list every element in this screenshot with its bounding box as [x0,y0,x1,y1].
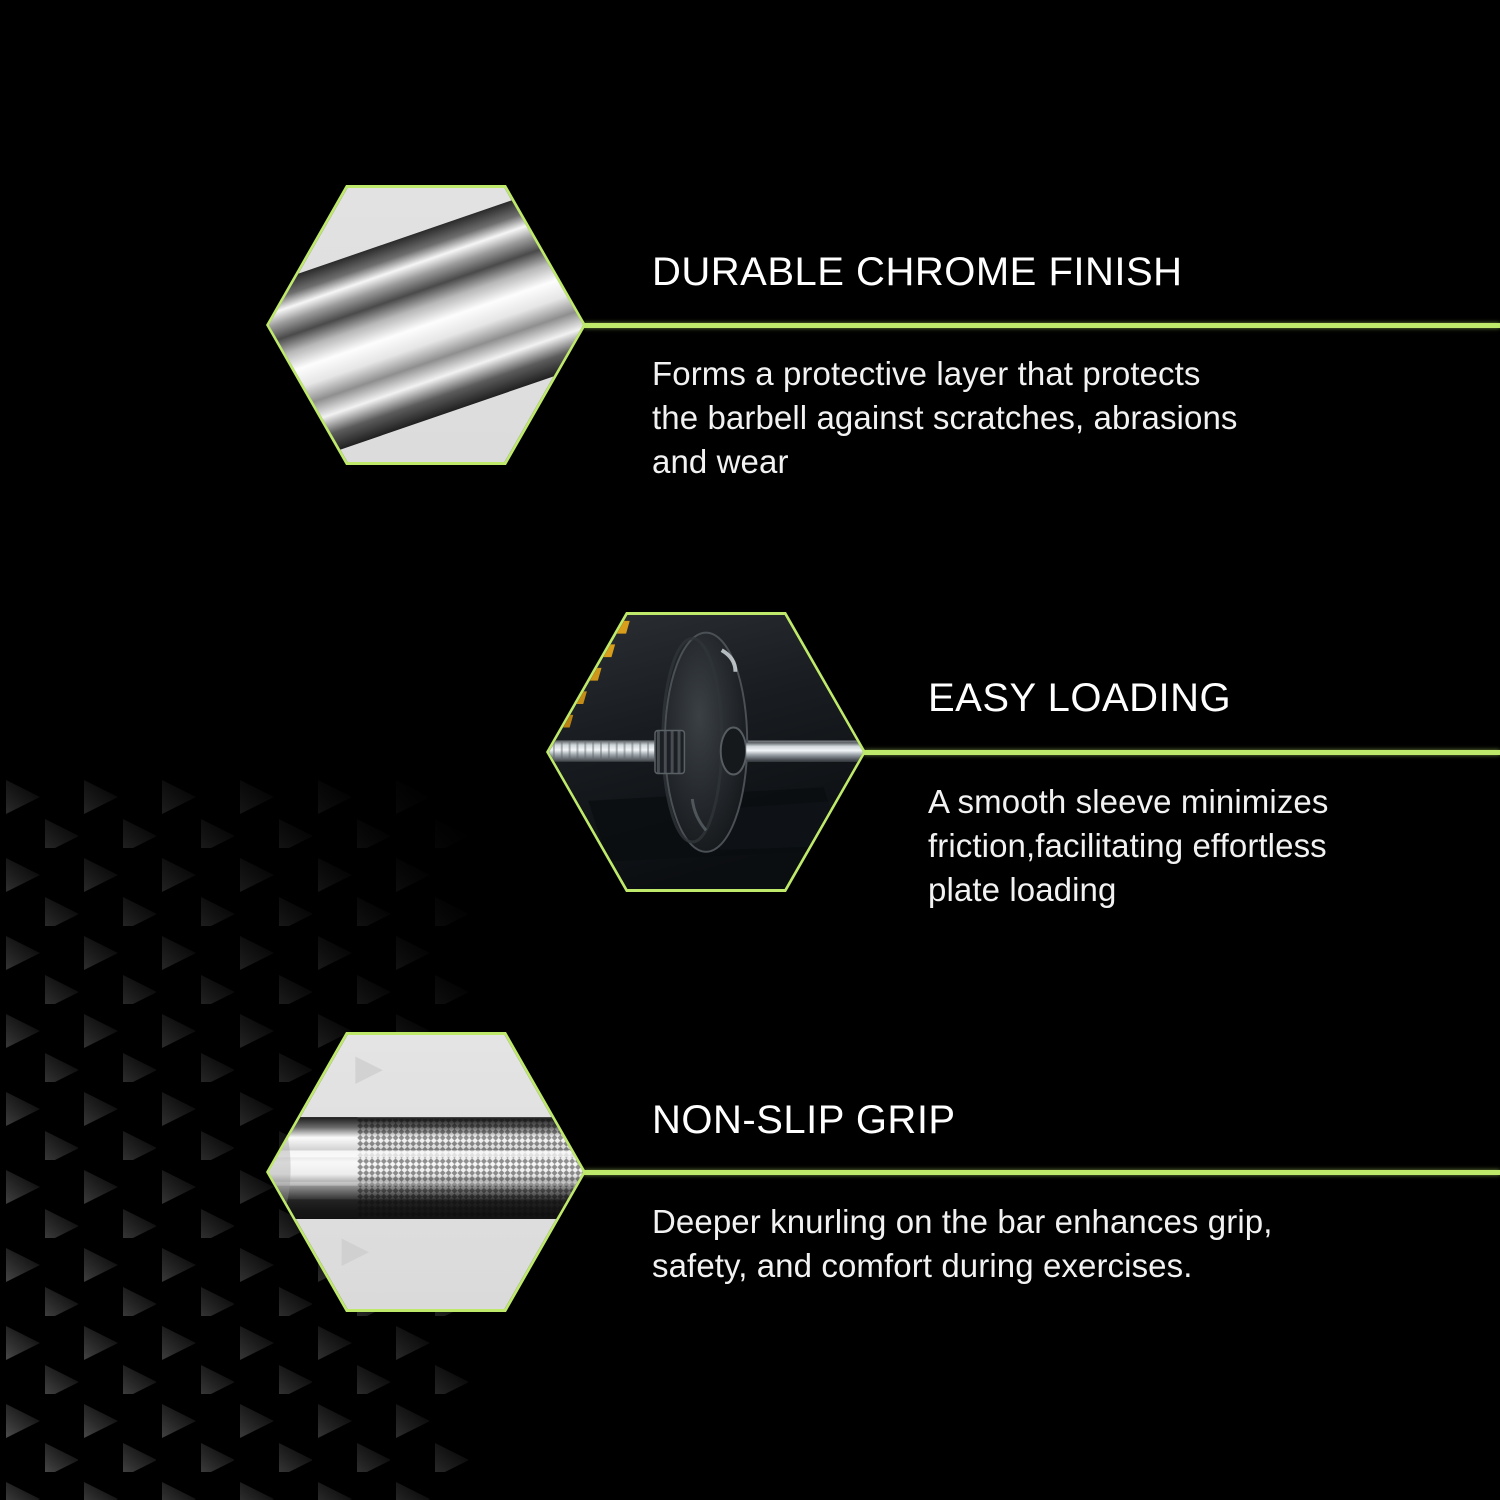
knurled-grip-image [269,1035,583,1309]
feature-body-non-slip-grip: Deeper knurling on the bar enhances grip… [652,1200,1273,1288]
hexagon-image-clip [269,1035,583,1309]
body-line: and wear [652,440,1238,484]
hexagon-image-non-slip-grip[interactable] [266,1032,586,1312]
feature-title-chrome-finish: DURABLE CHROME FINISH [652,252,1183,292]
body-line: plate loading [928,868,1328,912]
feature-title-non-slip-grip: NON-SLIP GRIP [652,1100,956,1140]
body-line: Forms a protective layer that protects [652,352,1238,396]
feature-body-easy-loading: A smooth sleeve minimizes friction,facil… [928,780,1328,912]
hexagon-image-clip [269,188,583,462]
hexagon-image-chrome-finish[interactable] [266,185,586,465]
connector-line-easy-loading [863,750,1500,755]
feature-title-easy-loading: EASY LOADING [928,678,1231,718]
title-text: EASY LOADING [928,678,1231,718]
hexagon-image-easy-loading[interactable] [546,612,866,892]
hexagon-image-clip [549,615,863,889]
body-line: A smooth sleeve minimizes [928,780,1328,824]
body-line: the barbell against scratches, abrasions [652,396,1238,440]
title-text: NON-SLIP GRIP [652,1100,956,1140]
connector-line-non-slip-grip [583,1170,1500,1175]
title-text: DURABLE CHROME FINISH [652,252,1183,292]
infographic-canvas: DURABLE CHROME FINISH Forms a protective… [0,0,1500,1500]
body-line: Deeper knurling on the bar enhances grip… [652,1200,1273,1244]
body-line: safety, and comfort during exercises. [652,1244,1273,1288]
chrome-barbell-shaft-image [269,188,583,462]
barbell-plate-collar-image [549,615,863,889]
connector-line-chrome-finish [583,323,1500,328]
body-line: friction,facilitating effortless [928,824,1328,868]
feature-body-chrome-finish: Forms a protective layer that protects t… [652,352,1238,484]
